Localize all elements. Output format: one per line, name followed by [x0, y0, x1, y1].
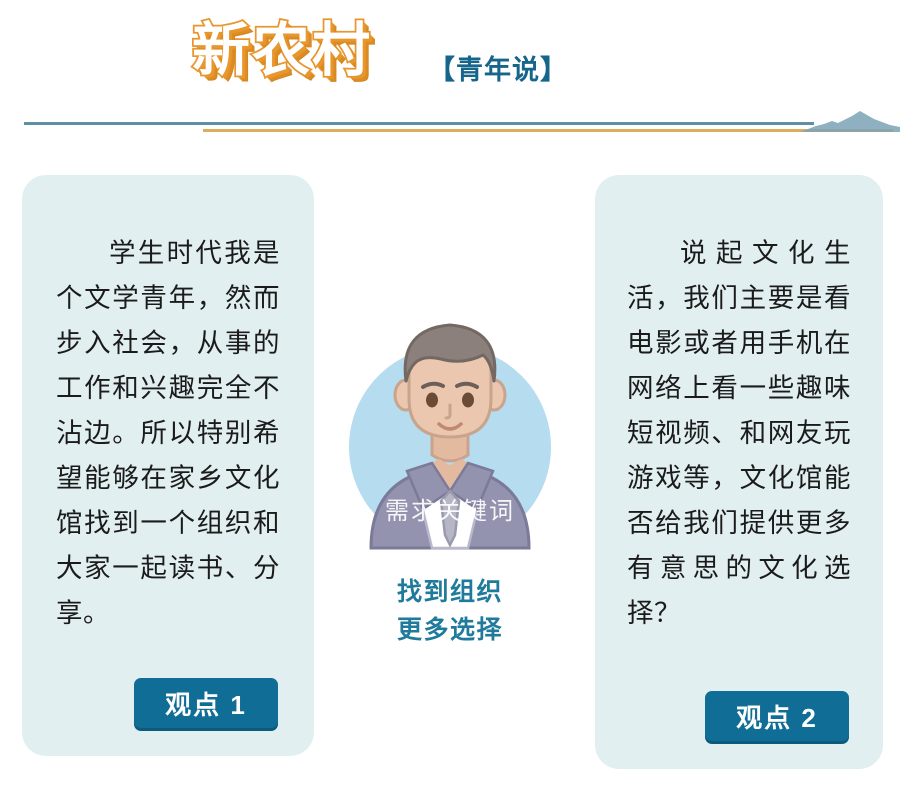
header-divider [0, 108, 900, 148]
avatar-overlay-caption: 需求关键词 [337, 491, 563, 526]
opinion-text-left: 学生时代我是个文学青年，然而步入社会，从事的工作和兴趣完全不沾边。所以特别希望能… [22, 231, 314, 636]
avatar-tagline-line-1: 找到组织 [320, 573, 580, 611]
avatar-tagline: 找到组织 更多选择 [320, 573, 580, 649]
mountain-silhouette-icon [800, 106, 900, 132]
opinion-card-right: 说起文化生活，我们主要是看电影或者用手机在网络上看一些趣味短视频、和网友玩游戏等… [595, 175, 883, 769]
opinion-2-button[interactable]: 观点 2 [705, 691, 849, 741]
divider-line-blue [24, 122, 814, 125]
avatar: 需求关键词 [337, 295, 563, 553]
opinion-card-left: 学生时代我是个文学青年，然而步入社会，从事的工作和兴趣完全不沾边。所以特别希望能… [22, 175, 314, 756]
page-header: 新农村 【青年说】 [0, 0, 900, 110]
page-title: 新农村 [192, 22, 372, 80]
opinion-1-button[interactable]: 观点 1 [134, 678, 278, 728]
avatar-block: 需求关键词 找到组织 更多选择 [320, 295, 580, 675]
avatar-tagline-line-2: 更多选择 [320, 611, 580, 649]
opinion-text-right: 说起文化生活，我们主要是看电影或者用手机在网络上看一些趣味短视频、和网友玩游戏等… [595, 231, 883, 636]
page-subtitle: 【青年说】 [428, 48, 568, 87]
divider-line-orange [203, 129, 893, 132]
